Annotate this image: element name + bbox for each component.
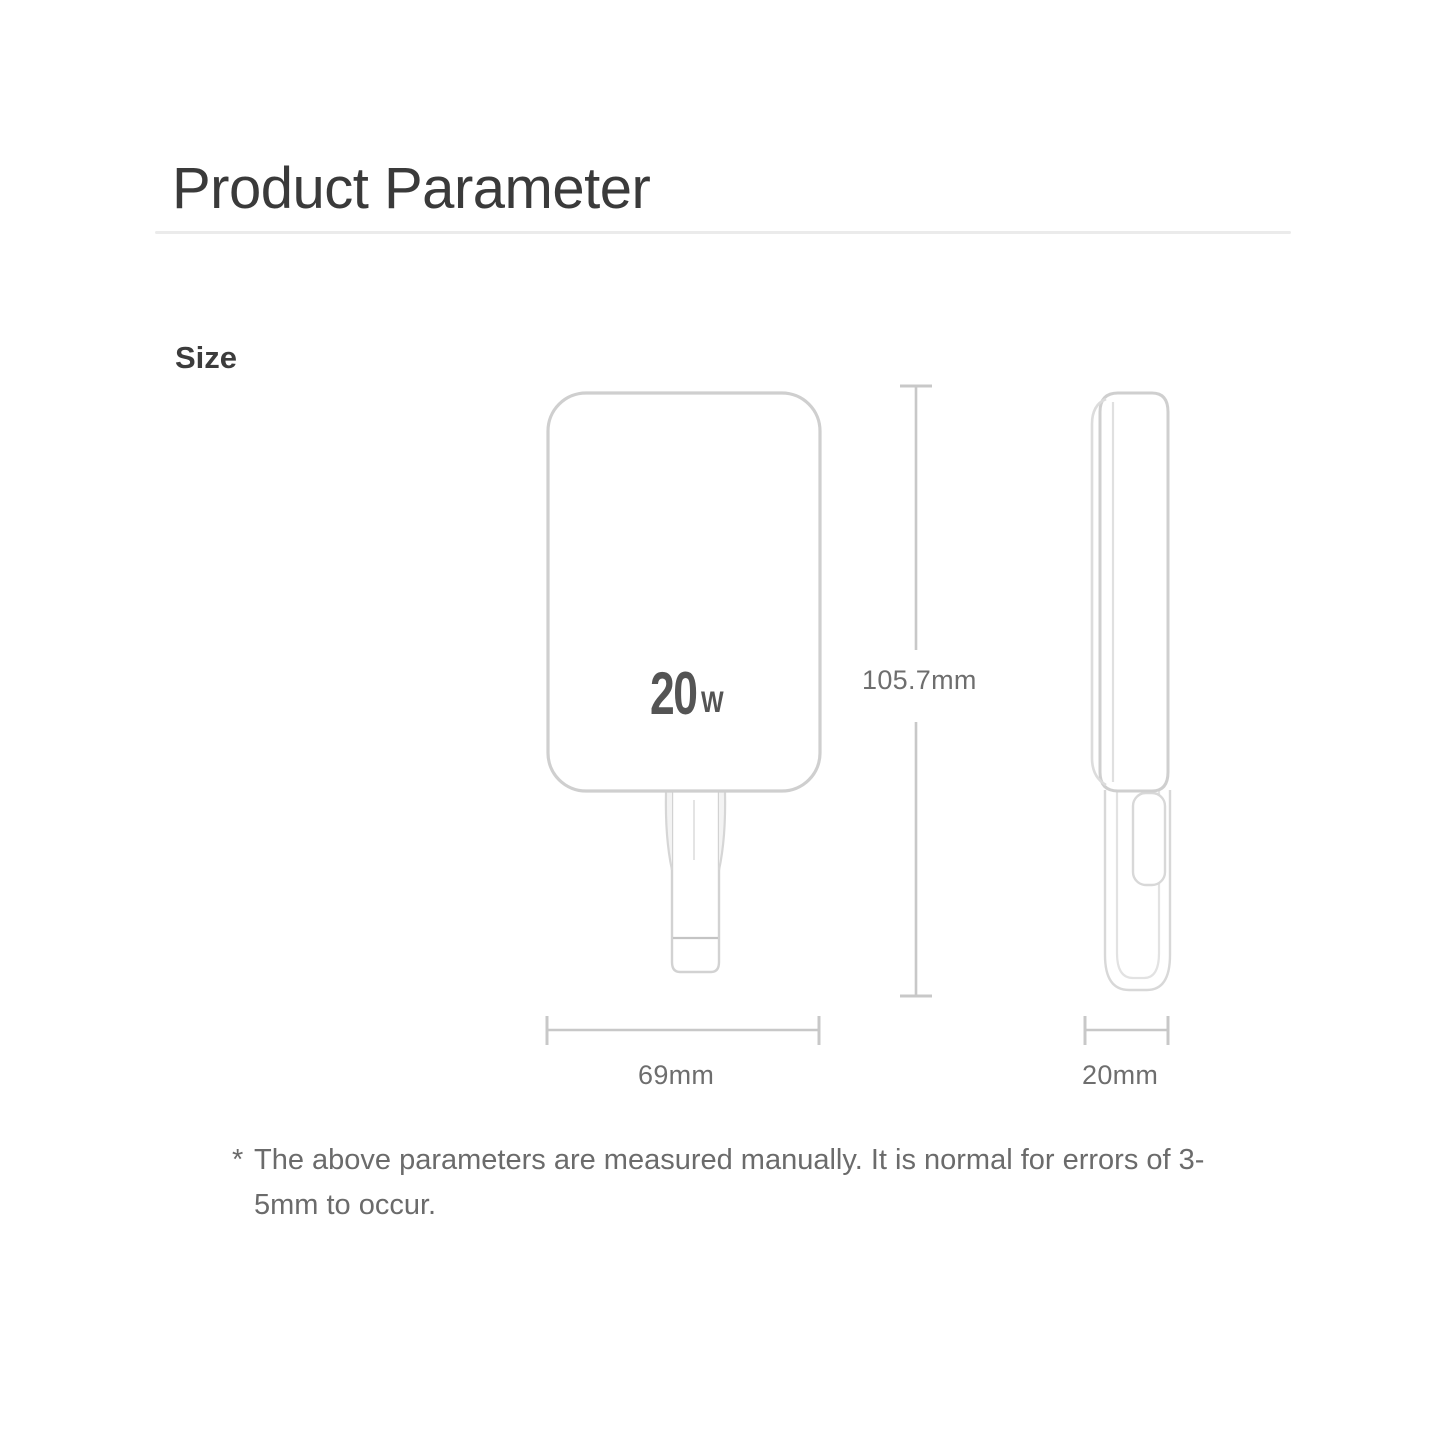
dimension-label-width-front: 69mm [638,1060,714,1091]
watt-rating-number: 20 [650,668,696,721]
size-diagram [0,0,1445,1445]
dimension-width-front [547,1016,819,1045]
side-cable-connector [1133,793,1165,885]
watt-rating-print: 20 W [650,668,728,721]
side-body-outline [1100,393,1168,791]
footnote: * The above parameters are measured manu… [232,1138,1242,1228]
watt-rating-unit: W [701,688,723,721]
footnote-marker: * [232,1138,243,1183]
front-body-outline [548,393,820,791]
side-view-illustration [1092,393,1170,990]
product-parameter-page: Product Parameter Size [0,0,1445,1445]
dimension-label-width-side: 20mm [1082,1060,1158,1091]
dimension-label-height: 105.7mm [862,665,977,696]
footnote-text: The above parameters are measured manual… [232,1138,1242,1228]
size-diagram-svg [0,0,1445,1445]
dimension-width-side [1085,1016,1168,1045]
front-cable-strap [672,790,719,972]
